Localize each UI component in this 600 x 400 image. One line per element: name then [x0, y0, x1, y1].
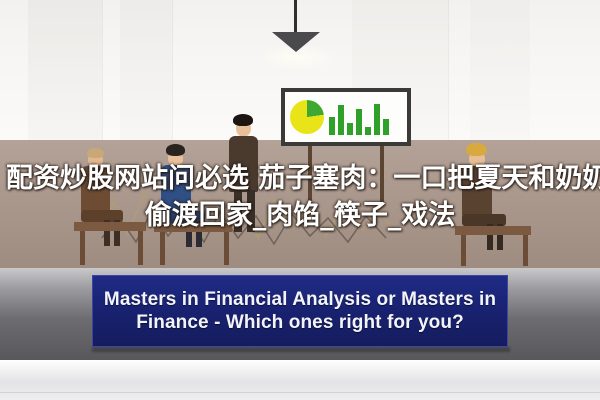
bench: [74, 222, 146, 231]
wall-panel: [120, 0, 172, 142]
bench-leg: [224, 232, 229, 265]
wall-panel: [28, 0, 102, 142]
wall-seam: [448, 0, 449, 142]
bench-leg: [80, 231, 85, 265]
screenshot-root: Masters in Financial Analysis or Masters…: [0, 0, 600, 400]
pendant-lamp-rod: [294, 0, 297, 34]
promo-banner-text: Masters in Financial Analysis or Masters…: [93, 288, 507, 334]
pendant-lamp-icon: [272, 32, 320, 52]
bottom-divider: [0, 392, 600, 393]
bench: [455, 226, 531, 235]
promo-banner[interactable]: Masters in Financial Analysis or Masters…: [92, 275, 508, 347]
illustration-scene: [0, 0, 600, 268]
wall-seam: [102, 0, 103, 142]
pie-chart: [290, 100, 324, 134]
bench: [154, 223, 232, 232]
wall-seam: [172, 0, 173, 142]
wall-panel: [470, 0, 530, 142]
bench-leg: [138, 231, 143, 265]
bench-leg: [523, 235, 528, 266]
bar-chart: [329, 99, 389, 135]
banner-shadow: [92, 347, 510, 352]
bottom-white-band: [0, 360, 600, 400]
bench-leg: [160, 232, 165, 265]
whiteboard: [281, 88, 411, 146]
bench-leg: [461, 235, 466, 266]
